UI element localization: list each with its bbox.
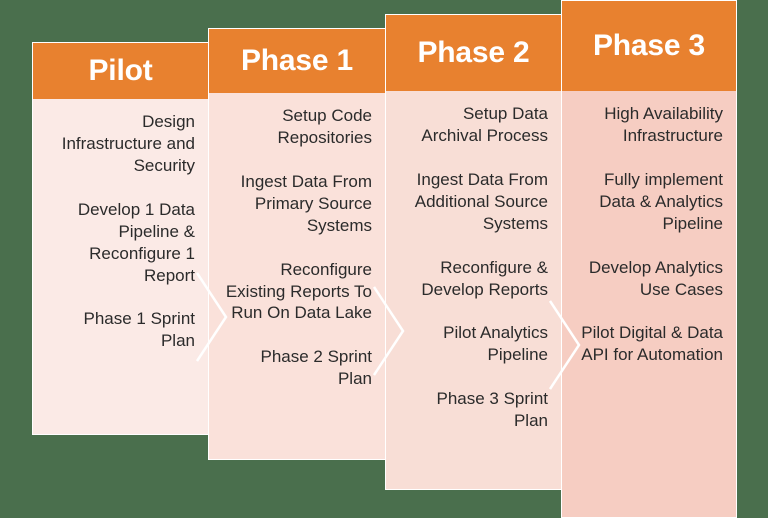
phase-item: Phase 3 Sprint Plan — [399, 388, 548, 432]
phase-header-phase-2: Phase 2 — [386, 15, 561, 91]
phase-header-phase-1: Phase 1 — [209, 29, 385, 93]
phase-item: Develop 1 Data Pipeline & Reconfigure 1 … — [46, 199, 195, 287]
phase-item: Pilot Analytics Pipeline — [399, 322, 548, 366]
phase-item: Phase 2 Sprint Plan — [222, 346, 372, 390]
phase-column-pilot[interactable]: Pilot Design Infrastructure and Security… — [32, 42, 209, 435]
phase-column-phase-2[interactable]: Phase 2 Setup Data Archival Process Inge… — [385, 14, 562, 490]
phase-item: Reconfigure & Develop Reports — [399, 257, 548, 301]
phase-item: Develop Analytics Use Cases — [575, 257, 723, 301]
phase-item: Ingest Data From Additional Source Syste… — [399, 169, 548, 235]
phase-item: Fully implement Data & Analytics Pipelin… — [575, 169, 723, 235]
phase-item: Setup Code Repositories — [222, 105, 372, 149]
phase-item: Setup Data Archival Process — [399, 103, 548, 147]
phase-item: Phase 1 Sprint Plan — [46, 308, 195, 352]
phase-column-phase-1[interactable]: Phase 1 Setup Code Repositories Ingest D… — [208, 28, 386, 460]
phase-item: Ingest Data From Primary Source Systems — [222, 171, 372, 237]
phase-header-pilot: Pilot — [33, 43, 208, 99]
phase-body-pilot: Design Infrastructure and Security Devel… — [33, 99, 208, 434]
phase-body-phase-1: Setup Code Repositories Ingest Data From… — [209, 93, 385, 459]
phase-item: Design Infrastructure and Security — [46, 111, 195, 177]
phase-body-phase-2: Setup Data Archival Process Ingest Data … — [386, 91, 561, 489]
phased-roadmap-diagram: Pilot Design Infrastructure and Security… — [0, 0, 768, 518]
phase-column-phase-3[interactable]: Phase 3 High Availability Infrastructure… — [561, 0, 737, 518]
phase-item: Reconfigure Existing Reports To Run On D… — [222, 259, 372, 325]
phase-header-phase-3: Phase 3 — [562, 1, 736, 91]
phase-item: Pilot Digital & Data API for Automation — [575, 322, 723, 366]
phase-body-phase-3: High Availability Infrastructure Fully i… — [562, 91, 736, 517]
phase-item: High Availability Infrastructure — [575, 103, 723, 147]
